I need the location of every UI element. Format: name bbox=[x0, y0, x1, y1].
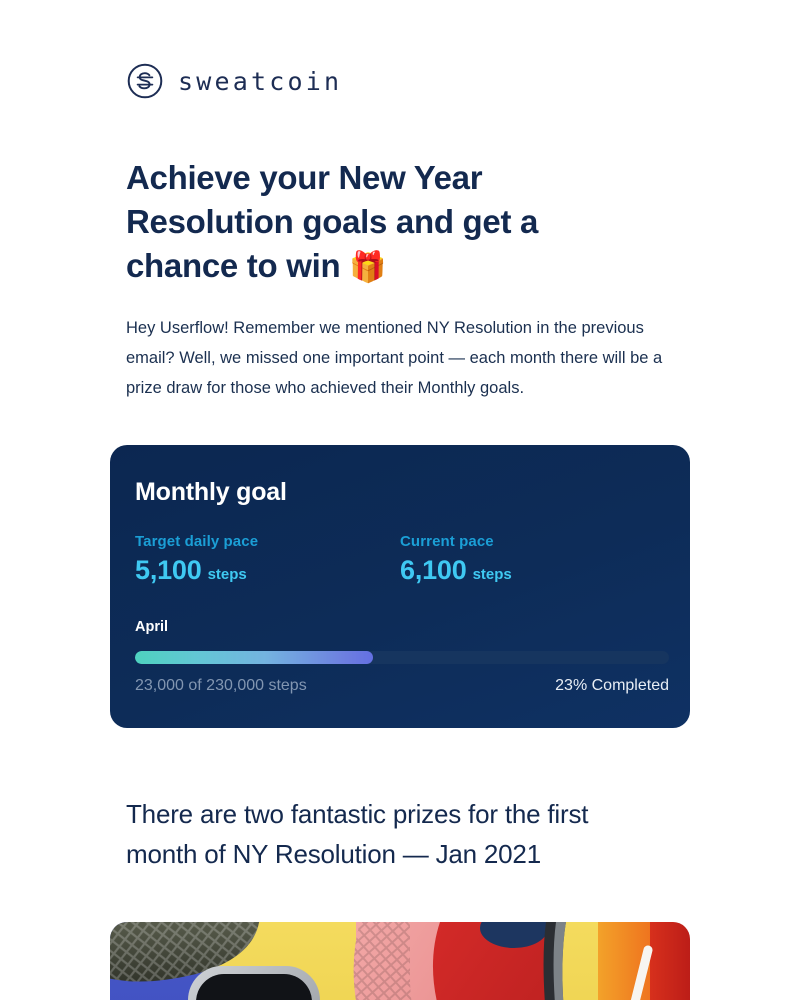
brand-wordmark: sweatcoin bbox=[178, 69, 342, 94]
brand-logo[interactable]: sweatcoin bbox=[126, 62, 342, 100]
goal-card-title: Monthly goal bbox=[135, 478, 287, 507]
progress-percent-label: 23% Completed bbox=[555, 677, 669, 695]
stat-value: 6,100 bbox=[400, 557, 467, 584]
goal-stats-row: Target daily pace 5,100 steps Current pa… bbox=[135, 533, 665, 584]
progress-period-label: April bbox=[135, 619, 168, 635]
sweatcoin-circle-s-icon bbox=[126, 62, 164, 100]
monthly-goal-card: Monthly goal Target daily pace 5,100 ste… bbox=[110, 445, 690, 728]
stat-value: 5,100 bbox=[135, 557, 202, 584]
stat-label: Current pace bbox=[400, 533, 665, 550]
intro-paragraph: Hey Userflow! Remember we mentioned NY R… bbox=[126, 313, 666, 403]
progress-steps-label: 23,000 of 230,000 steps bbox=[135, 677, 307, 695]
stat-value-row: 5,100 steps bbox=[135, 557, 400, 584]
watch-collage-graphic bbox=[110, 922, 690, 1000]
page-title: Achieve your New Year Resolution goals a… bbox=[126, 156, 626, 290]
stat-target-daily-pace: Target daily pace 5,100 steps bbox=[135, 533, 400, 584]
progress-footer: 23,000 of 230,000 steps 23% Completed bbox=[135, 677, 669, 695]
email-body: sweatcoin Achieve your New Year Resoluti… bbox=[0, 0, 800, 1000]
progress-bar-fill bbox=[135, 651, 373, 664]
stat-unit: steps bbox=[473, 567, 512, 582]
stat-unit: steps bbox=[208, 567, 247, 582]
prizes-subheading: There are two fantastic prizes for the f… bbox=[126, 794, 646, 874]
progress-bar-track bbox=[135, 651, 669, 664]
stat-current-pace: Current pace 6,100 steps bbox=[400, 533, 665, 584]
apple-watch-collage-image bbox=[110, 922, 690, 1000]
stat-value-row: 6,100 steps bbox=[400, 557, 665, 584]
stat-label: Target daily pace bbox=[135, 533, 400, 550]
headline-text: Achieve your New Year Resolution goals a… bbox=[126, 159, 538, 284]
gift-emoji-icon: 🎁 bbox=[349, 251, 386, 284]
